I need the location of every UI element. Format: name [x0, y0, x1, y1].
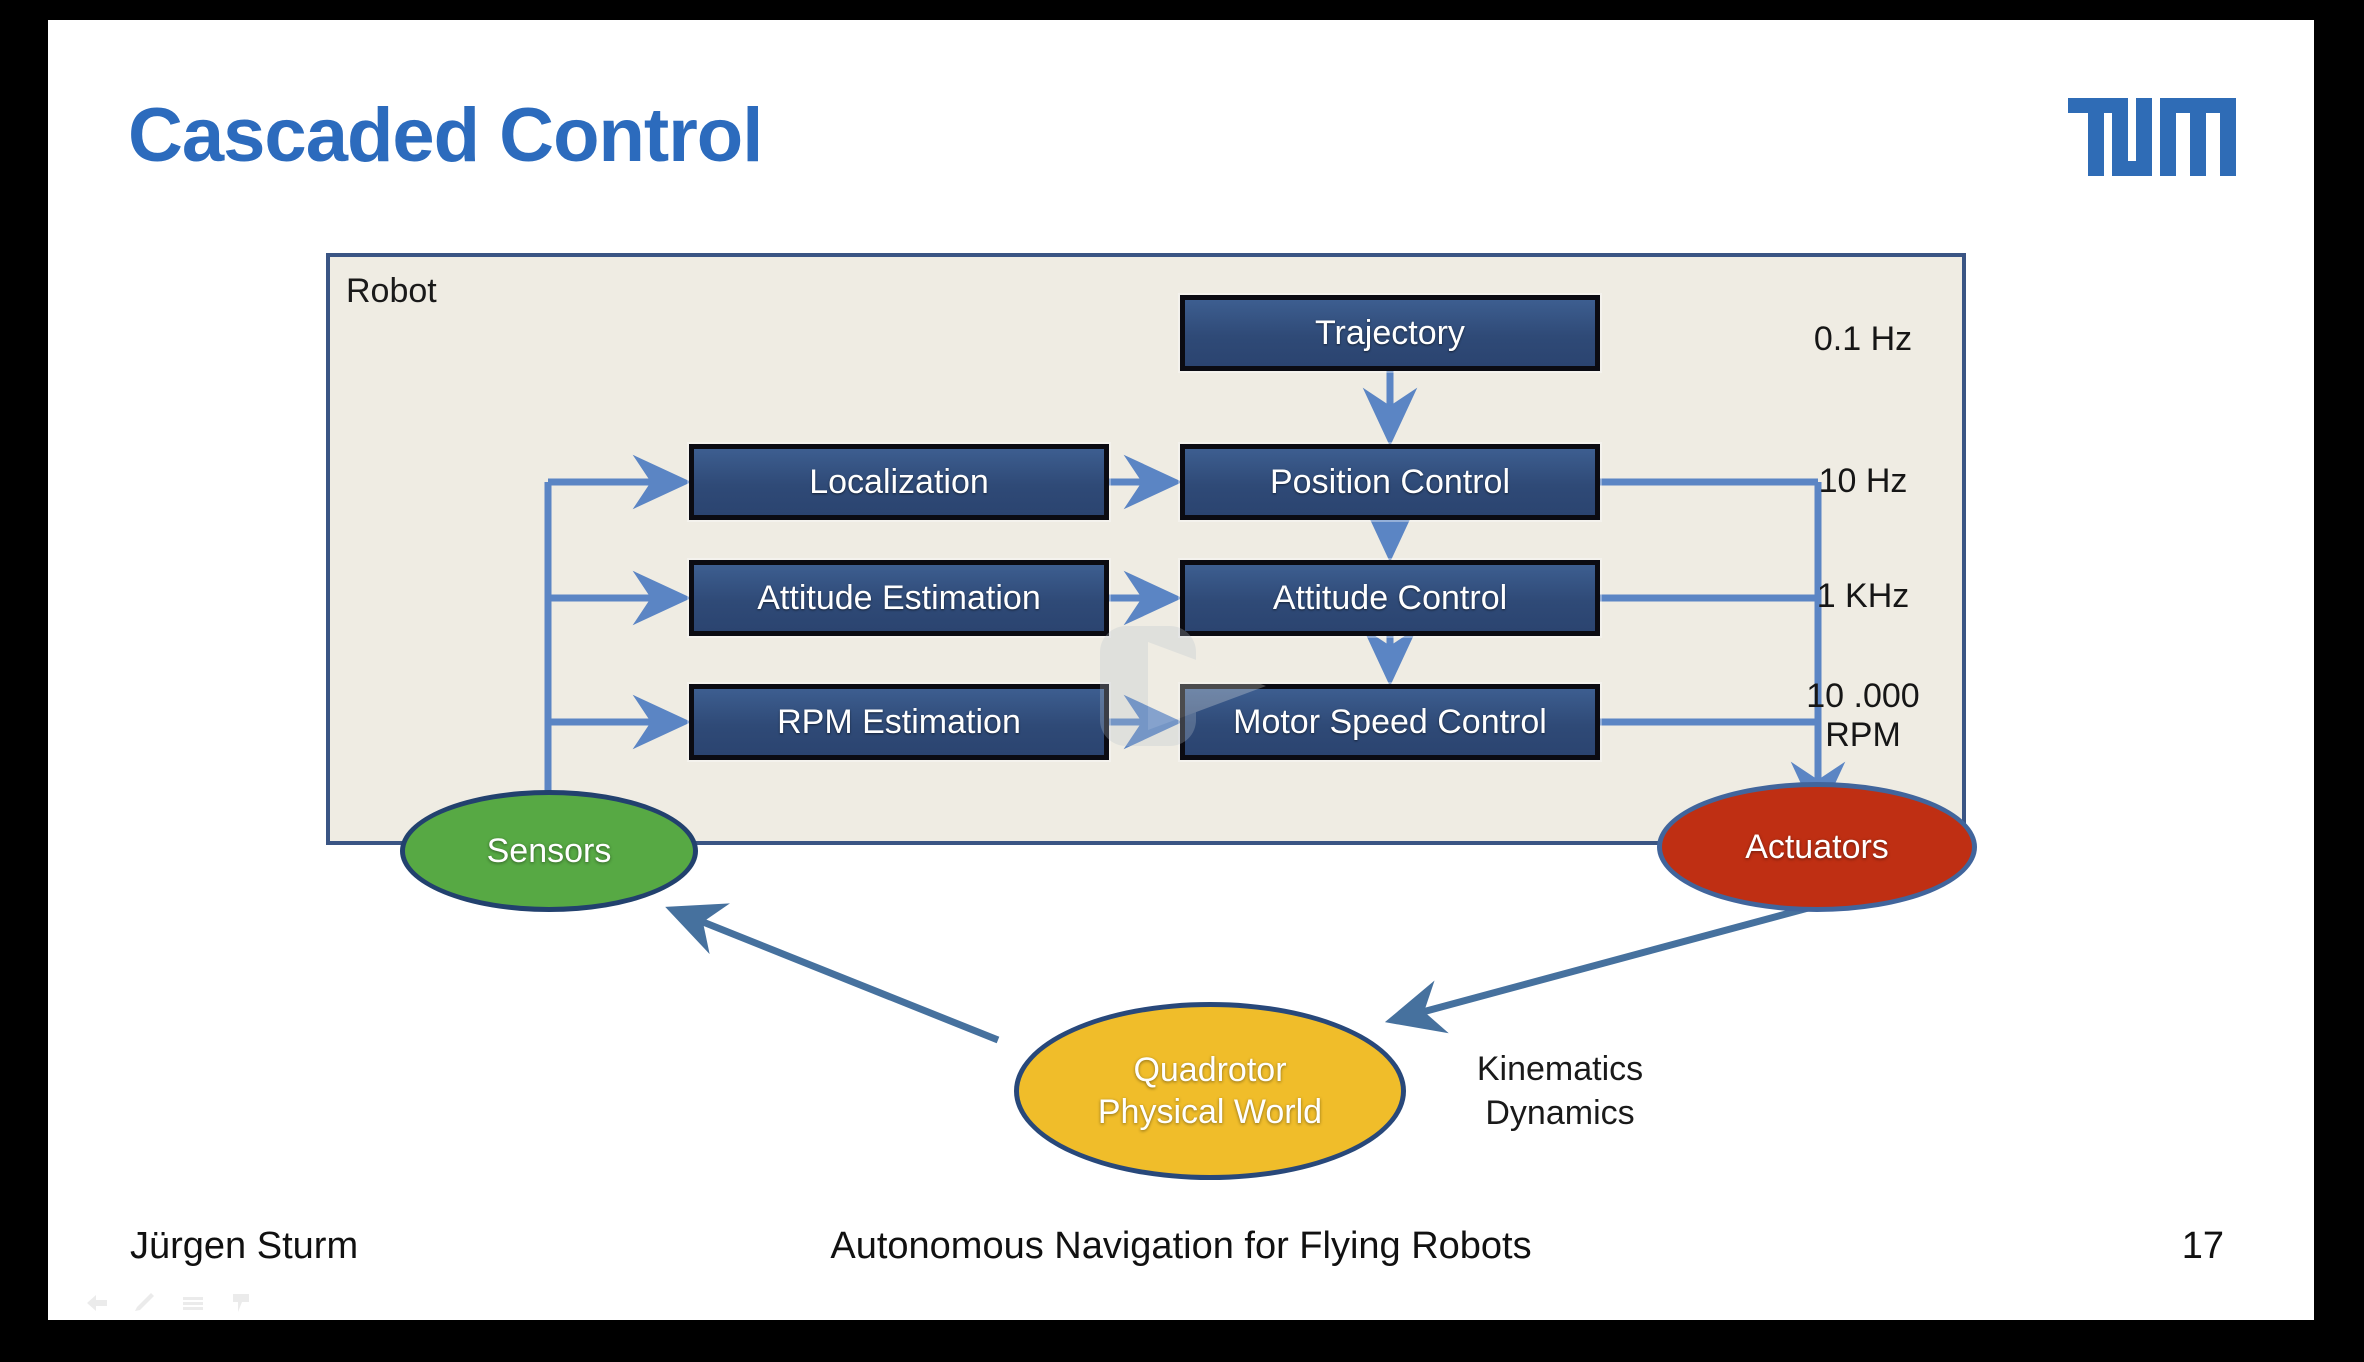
- footer-page-number: 17: [2182, 1225, 2224, 1268]
- footer-course-title: Autonomous Navigation for Flying Robots: [48, 1225, 2314, 1268]
- page-title: Cascaded Control: [128, 92, 762, 179]
- block-label: Localization: [809, 463, 989, 502]
- block-label: Motor Speed Control: [1233, 703, 1547, 742]
- block-position-control[interactable]: Position Control: [1180, 444, 1600, 520]
- block-trajectory[interactable]: Trajectory: [1180, 295, 1600, 371]
- node-label: Sensors: [487, 830, 612, 873]
- annotation-line1: Kinematics: [1460, 1048, 1660, 1092]
- block-label: Attitude Estimation: [757, 579, 1040, 618]
- node-label-line2: Physical World: [1098, 1093, 1322, 1131]
- annotation-line2: Dynamics: [1460, 1092, 1660, 1136]
- node-actuators[interactable]: Actuators: [1657, 782, 1977, 912]
- pen-icon[interactable]: [132, 1292, 158, 1314]
- node-label: Quadrotor Physical World: [1098, 1049, 1322, 1134]
- play-icon[interactable]: [1090, 612, 1280, 760]
- block-label: RPM Estimation: [777, 703, 1021, 742]
- node-sensors[interactable]: Sensors: [400, 790, 698, 912]
- back-arrow-icon[interactable]: [84, 1292, 110, 1314]
- slide-frame: Cascaded Control Robot: [48, 20, 2314, 1320]
- tum-logo: [2068, 98, 2236, 176]
- rate-label-motor-line2: RPM: [1748, 716, 1978, 755]
- presenter-toolbar[interactable]: [84, 1292, 254, 1314]
- block-label: Position Control: [1270, 463, 1510, 502]
- rate-label-attitude: 1 KHz: [1748, 577, 1978, 616]
- block-localization[interactable]: Localization: [689, 444, 1109, 520]
- rate-label-position: 10 Hz: [1748, 462, 1978, 501]
- node-label: Actuators: [1745, 826, 1889, 869]
- rate-label-trajectory: 0.1 Hz: [1748, 320, 1978, 359]
- rate-label-motor-line1: 10 .000: [1748, 677, 1978, 716]
- pointer-icon[interactable]: [228, 1292, 254, 1314]
- block-label: Attitude Control: [1273, 579, 1507, 618]
- block-rpm-estimation[interactable]: RPM Estimation: [689, 684, 1109, 760]
- node-quadrotor-physical-world[interactable]: Quadrotor Physical World: [1014, 1002, 1406, 1180]
- block-label: Trajectory: [1315, 314, 1465, 353]
- annotation-kinematics-dynamics: Kinematics Dynamics: [1460, 1048, 1660, 1135]
- menu-icon[interactable]: [180, 1292, 206, 1314]
- rate-label-motor: 10 .000 RPM: [1748, 677, 1978, 755]
- robot-container-label: Robot: [346, 272, 437, 311]
- block-attitude-estimation[interactable]: Attitude Estimation: [689, 560, 1109, 636]
- node-label-line1: Quadrotor: [1133, 1051, 1286, 1089]
